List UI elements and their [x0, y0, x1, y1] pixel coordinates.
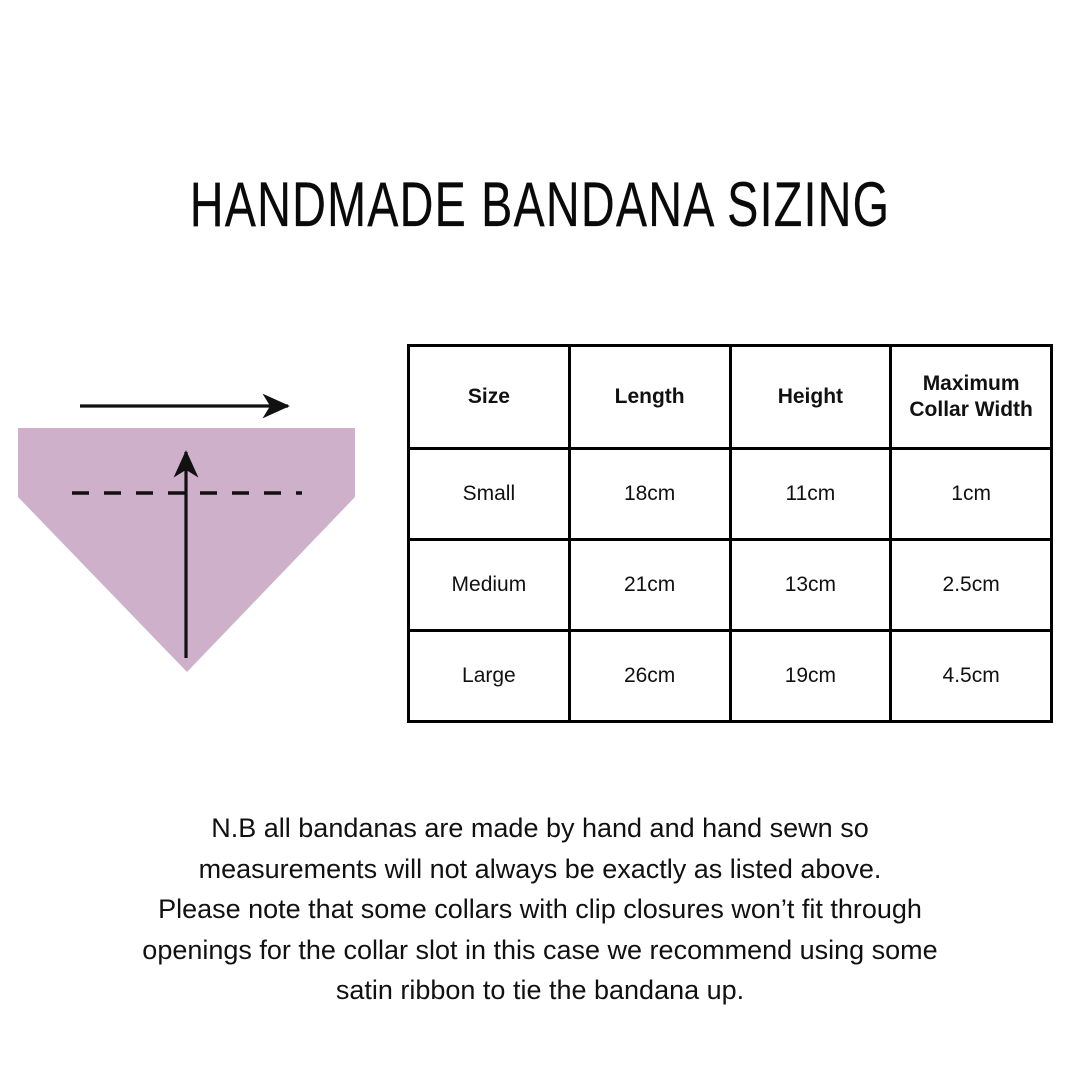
bandana-shape-diagram: [0, 380, 400, 690]
cell-length: 21cm: [569, 540, 730, 631]
cell-max-collar-width: 4.5cm: [891, 631, 1052, 722]
table-row: Medium 21cm 13cm 2.5cm: [409, 540, 1052, 631]
column-header-height: Height: [730, 346, 891, 449]
footnote-line: openings for the collar slot in this cas…: [60, 930, 1020, 971]
cell-length: 18cm: [569, 449, 730, 540]
sizing-chart-page: HANDMADE BANDANA SIZING: [0, 0, 1080, 1080]
size-table: Size Length Height Maximum Collar Width …: [407, 344, 1053, 723]
table-row: Small 18cm 11cm 1cm: [409, 449, 1052, 540]
cell-length: 26cm: [569, 631, 730, 722]
footnote-line: satin ribbon to tie the bandana up.: [60, 970, 1020, 1011]
column-header-max-collar-width-line1: Maximum: [923, 372, 1020, 395]
column-header-size: Size: [409, 346, 570, 449]
cell-size: Large: [409, 631, 570, 722]
cell-height: 19cm: [730, 631, 891, 722]
cell-height: 13cm: [730, 540, 891, 631]
footnote-line: N.B all bandanas are made by hand and ha…: [60, 808, 1020, 849]
cell-size: Small: [409, 449, 570, 540]
table-row: Large 26cm 19cm 4.5cm: [409, 631, 1052, 722]
column-header-max-collar-width-line2: Collar Width: [909, 398, 1032, 421]
column-header-max-collar-width: Maximum Collar Width: [891, 346, 1052, 449]
footnote-text: N.B all bandanas are made by hand and ha…: [60, 808, 1020, 1011]
cell-size: Medium: [409, 540, 570, 631]
footnote-line: Please note that some collars with clip …: [60, 889, 1020, 930]
cell-max-collar-width: 2.5cm: [891, 540, 1052, 631]
cell-height: 11cm: [730, 449, 891, 540]
table-header: Size Length Height Maximum Collar Width: [409, 346, 1052, 449]
footnote-line: measurements will not always be exactly …: [60, 849, 1020, 890]
column-header-length: Length: [569, 346, 730, 449]
table-body: Small 18cm 11cm 1cm Medium 21cm 13cm 2.5…: [409, 449, 1052, 722]
cell-max-collar-width: 1cm: [891, 449, 1052, 540]
page-title: HANDMADE BANDANA SIZING: [119, 172, 961, 237]
table-header-row: Size Length Height Maximum Collar Width: [409, 346, 1052, 449]
